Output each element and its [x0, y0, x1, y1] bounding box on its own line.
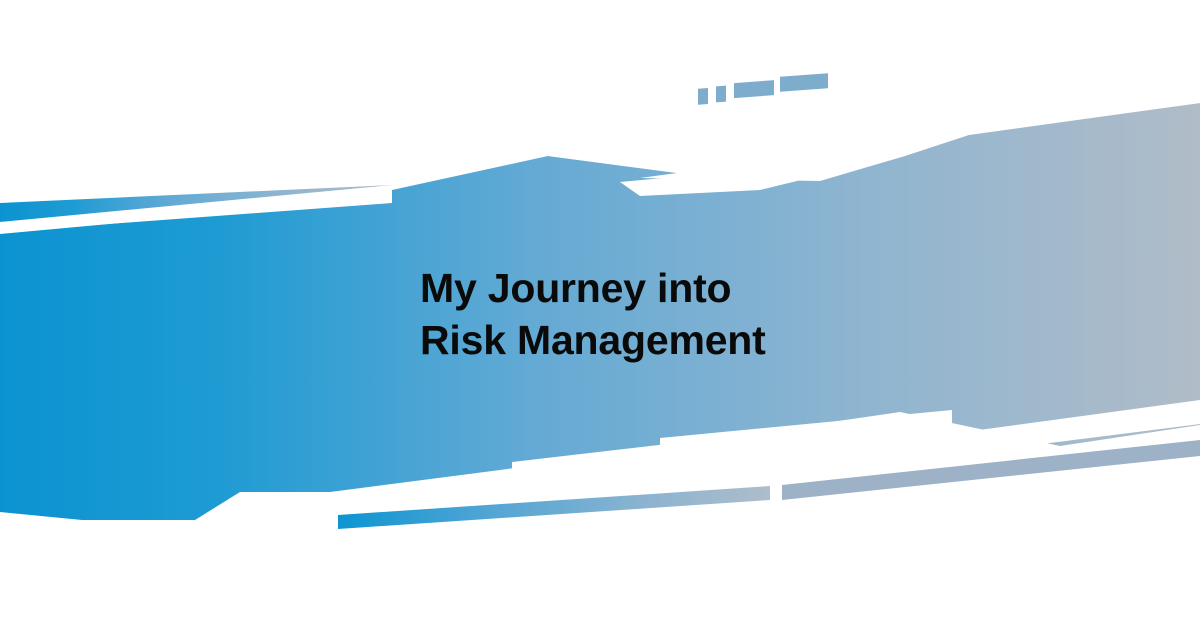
- page-title: My Journey into Risk Management: [420, 262, 940, 366]
- dash-mark-4: [780, 73, 828, 92]
- dash-marks-group: [698, 73, 828, 105]
- dash-mark-2: [716, 86, 726, 103]
- dash-mark-3: [734, 80, 774, 98]
- page-title-line-2: Risk Management: [420, 314, 940, 366]
- banner-card: My Journey into Risk Management: [0, 0, 1200, 630]
- dash-mark-1: [698, 88, 708, 105]
- page-title-line-1: My Journey into: [420, 262, 940, 314]
